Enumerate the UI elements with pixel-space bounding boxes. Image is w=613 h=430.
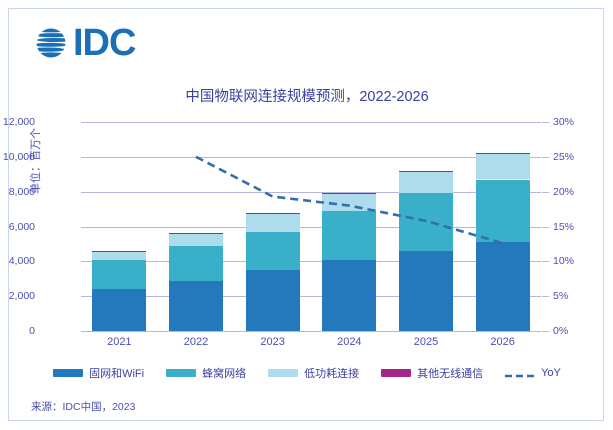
legend-label: 固网和WiFi	[89, 365, 144, 381]
y-tick-left: 12,000	[0, 117, 35, 127]
y-tickmark-right	[542, 227, 549, 228]
y-tickmark-right	[542, 331, 549, 332]
y-tick-left: 2,000	[0, 291, 35, 301]
legend-swatch	[53, 369, 83, 377]
legend-label: 蜂窝网络	[202, 365, 246, 381]
y-tickmark-right	[542, 261, 549, 262]
yoy-polyline	[196, 157, 503, 243]
plot-area: 02,0004,0006,0008,00010,00012,000 0%5%10…	[81, 122, 541, 331]
legend-dash-swatch	[505, 368, 535, 378]
chart-title: 中国物联网连接规模预测，2022-2026	[9, 85, 605, 106]
legend-label: 低功耗连接	[304, 365, 359, 381]
y-tick-right: 15%	[553, 222, 613, 232]
y-tickmark-right	[542, 192, 549, 193]
gridline	[81, 331, 541, 332]
chart-card: IDC 中国物联网连接规模预测，2022-2026 单位：百万个 02,0004…	[8, 8, 604, 421]
legend-item[interactable]: 低功耗连接	[268, 365, 359, 381]
idc-wordmark: IDC	[73, 24, 135, 62]
y-tick-right: 30%	[553, 117, 613, 127]
yoy-line	[81, 122, 541, 331]
x-tick-label: 2022	[158, 336, 234, 348]
y-tickmark-right	[542, 157, 549, 158]
x-tick-label: 2023	[235, 336, 311, 348]
y-tick-left: 4,000	[0, 256, 35, 266]
y-tickmark-right	[542, 296, 549, 297]
legend-swatch	[381, 369, 411, 377]
legend-item-yoy[interactable]: YoY	[505, 367, 561, 379]
y-tick-left: 0	[0, 326, 35, 336]
legend-swatch	[166, 369, 196, 377]
legend-label: YoY	[541, 367, 561, 379]
y-tick-right: 25%	[553, 152, 613, 162]
idc-globe-icon	[31, 23, 71, 63]
y-tick-right: 10%	[553, 256, 613, 266]
idc-logo: IDC	[31, 23, 135, 63]
x-tick-label: 2026	[465, 336, 541, 348]
y-tick-right: 0%	[553, 326, 613, 336]
y-tick-left: 6,000	[0, 222, 35, 232]
y-tick-right: 5%	[553, 291, 613, 301]
x-tick-label: 2024	[311, 336, 387, 348]
y-tick-right: 20%	[553, 187, 613, 197]
legend-label: 其他无线通信	[417, 365, 483, 381]
x-tick-label: 2025	[388, 336, 464, 348]
y-tick-left: 10,000	[0, 152, 35, 162]
legend-item[interactable]: 其他无线通信	[381, 365, 483, 381]
legend-item[interactable]: 蜂窝网络	[166, 365, 246, 381]
y-tickmark-right	[542, 122, 549, 123]
chart-legend: 固网和WiFi蜂窝网络低功耗连接其他无线通信YoY	[9, 365, 605, 381]
source-note: 来源：IDC中国，2023	[31, 399, 135, 414]
legend-swatch	[268, 369, 298, 377]
legend-item[interactable]: 固网和WiFi	[53, 365, 144, 381]
y-tick-left: 8,000	[0, 187, 35, 197]
x-tick-label: 2021	[81, 336, 157, 348]
